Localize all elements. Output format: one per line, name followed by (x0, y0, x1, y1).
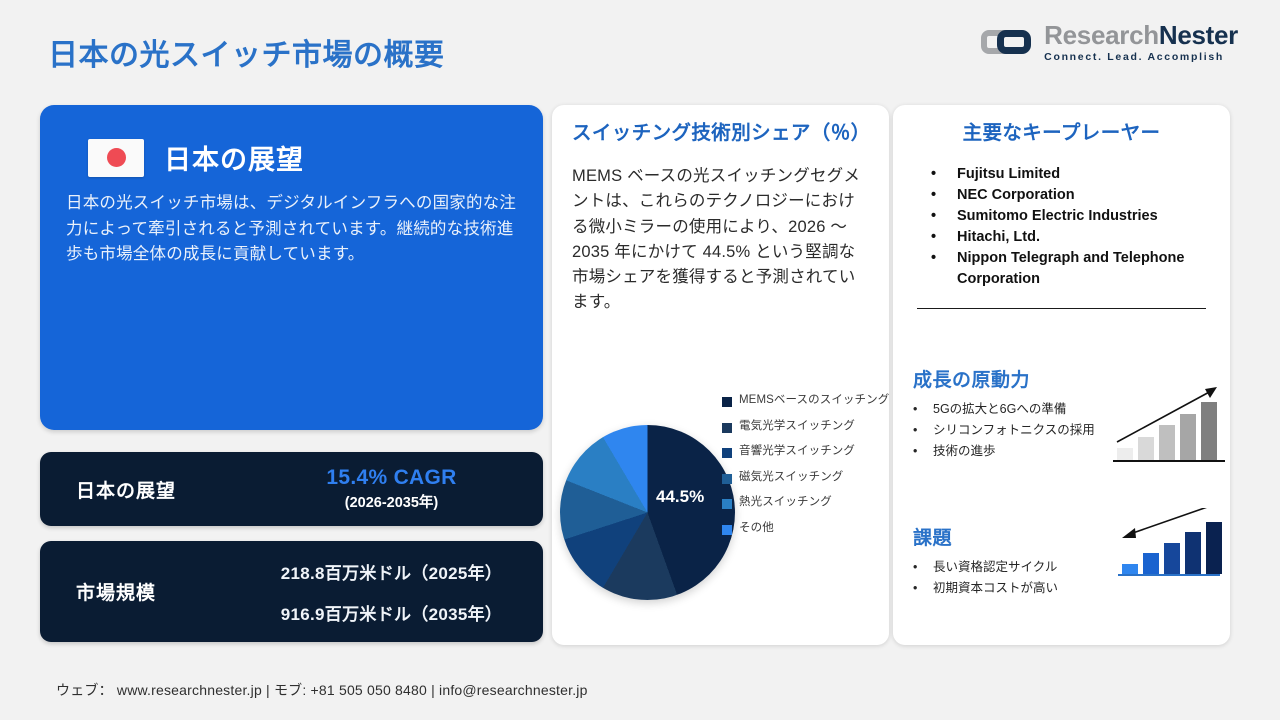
legend-swatch-icon (722, 423, 732, 433)
growth-drivers-section: 成長の原動力 •5Gの拡大と6Gへの準備•シリコンフォトニクスの採用•技術の進歩 (913, 365, 1118, 463)
pie-data-label: 44.5% (656, 487, 704, 507)
bullet-icon: • (913, 558, 933, 576)
legend-item[interactable]: 磁気光スイッチング (722, 470, 892, 486)
pie-graphic (560, 425, 735, 600)
legend-label: MEMSベースのスイッチング (739, 393, 889, 409)
market-size-2025: 218.8百万米ドル（2025年） (281, 559, 502, 584)
bar (1138, 437, 1154, 460)
outlook-body-text: 日本の光スイッチ市場は、デジタルインフラへの国家的な注力によって牽引されると予測… (66, 191, 517, 268)
bar (1164, 543, 1180, 574)
slide-root: 日本の光スイッチ市場の概要 ResearchNester Connect. Le… (0, 0, 1280, 720)
key-players-title: 主要なキープレーヤー (913, 121, 1210, 146)
legend-swatch-icon (722, 448, 732, 458)
list-item: •技術の進歩 (913, 442, 1118, 460)
bar (1117, 448, 1133, 460)
challenges-title: 課題 (913, 523, 1123, 550)
challenges-axis (1118, 574, 1220, 576)
list-item: •Hitachi, Ltd. (931, 227, 1210, 248)
list-item: •シリコンフォトニクスの採用 (913, 421, 1118, 439)
bar (1185, 532, 1201, 574)
outlook-title: 日本の展望 (164, 138, 304, 177)
list-item: •初期資本コストが高い (913, 579, 1123, 597)
share-panel-body: MEMS ベースの光スイッチングセグメントは、これらのテクノロジーにおける微小ミ… (572, 164, 869, 314)
bullet-label: 5Gの拡大と6Gへの準備 (933, 400, 1066, 418)
legend-label: 音響光学スイッチング (739, 444, 855, 460)
cagr-period: (2026-2035年) (345, 491, 439, 512)
bar (1206, 522, 1222, 574)
player-name: Nippon Telegraph and Telephone Corporati… (957, 248, 1210, 290)
bullet-label: 長い資格認定サイクル (933, 558, 1057, 576)
page-title: 日本の光スイッチ市場の概要 (48, 30, 445, 74)
bullet-icon: • (931, 164, 957, 185)
share-pie-chart: 44.5% MEMSベースのスイッチング電気光学スイッチング音響光学スイッチング… (552, 385, 889, 640)
legend-item[interactable]: MEMSベースのスイッチング (722, 393, 892, 409)
cagr-label: 日本の展望 (40, 476, 240, 503)
bar (1201, 402, 1217, 460)
list-item: •Sumitomo Electric Industries (931, 206, 1210, 227)
logo-mark-icon (981, 25, 1035, 59)
bullet-icon: • (913, 442, 933, 460)
cagr-value: 15.4% CAGR (326, 466, 456, 490)
japan-outlook-card: 日本の展望 日本の光スイッチ市場は、デジタルインフラへの国家的な注力によって牽引… (40, 105, 543, 430)
legend-item[interactable]: 音響光学スイッチング (722, 444, 892, 460)
list-item: •Nippon Telegraph and Telephone Corporat… (931, 248, 1210, 290)
bullet-label: 技術の進歩 (933, 442, 996, 460)
logo-word-research: Research (1044, 20, 1159, 50)
brand-logo: ResearchNester Connect. Lead. Accomplish (981, 22, 1238, 63)
list-item: •NEC Corporation (931, 185, 1210, 206)
market-size-stat-card: 市場規模 218.8百万米ドル（2025年） 916.9百万米ドル（2035年） (40, 541, 543, 642)
player-name: Sumitomo Electric Industries (957, 206, 1158, 227)
list-item: •Fujitsu Limited (931, 164, 1210, 185)
bullet-icon: • (931, 185, 957, 206)
descending-arrow-bar-chart-icon (1118, 508, 1220, 580)
bullet-icon: • (913, 579, 933, 597)
bullet-icon: • (913, 400, 933, 418)
bullet-icon: • (913, 421, 933, 439)
legend-swatch-icon (722, 474, 732, 484)
footer-contact: ウェブ： www.researchnester.jp | モブ: +81 505… (56, 680, 588, 700)
panel-divider (917, 308, 1206, 309)
challenges-list: •長い資格認定サイクル•初期資本コストが高い (913, 558, 1123, 597)
legend-swatch-icon (722, 499, 732, 509)
legend-item[interactable]: その他 (722, 521, 892, 537)
japan-flag-icon (88, 139, 144, 177)
drivers-axis (1113, 460, 1225, 462)
player-name: NEC Corporation (957, 185, 1075, 206)
legend-label: 電気光学スイッチング (739, 419, 855, 435)
list-item: •長い資格認定サイクル (913, 558, 1123, 576)
key-players-list: •Fujitsu Limited•NEC Corporation•Sumitom… (931, 164, 1210, 290)
market-size-2035: 916.9百万米ドル（2035年） (281, 600, 502, 625)
list-item: •5Gの拡大と6Gへの準備 (913, 400, 1118, 418)
legend-item[interactable]: 電気光学スイッチング (722, 419, 892, 435)
legend-label: 磁気光スイッチング (739, 470, 843, 486)
bullet-label: シリコンフォトニクスの採用 (933, 421, 1095, 439)
bar (1122, 564, 1138, 574)
player-name: Hitachi, Ltd. (957, 227, 1040, 248)
bullet-label: 初期資本コストが高い (933, 579, 1058, 597)
legend-label: 熱光スイッチング (739, 495, 832, 511)
bar (1159, 425, 1175, 460)
legend-item[interactable]: 熱光スイッチング (722, 495, 892, 511)
bullet-icon: • (931, 248, 957, 269)
bullet-icon: • (931, 206, 957, 227)
legend-swatch-icon (722, 397, 732, 407)
logo-word-nester: Nester (1159, 20, 1238, 50)
legend-swatch-icon (722, 525, 732, 535)
logo-tagline: Connect. Lead. Accomplish (1044, 52, 1238, 63)
bar (1143, 553, 1159, 574)
legend-label: その他 (739, 521, 774, 537)
growth-drivers-title: 成長の原動力 (913, 365, 1118, 392)
challenges-bars (1122, 502, 1222, 574)
drivers-bars (1117, 374, 1217, 460)
bullet-icon: • (931, 227, 957, 248)
growth-drivers-list: •5Gの拡大と6Gへの準備•シリコンフォトニクスの採用•技術の進歩 (913, 400, 1118, 460)
player-name: Fujitsu Limited (957, 164, 1060, 185)
market-size-label: 市場規模 (40, 578, 240, 605)
bar (1180, 414, 1196, 460)
share-panel-title: スイッチング技術別シェア（％） (572, 121, 869, 146)
challenges-section: 課題 •長い資格認定サイクル•初期資本コストが高い (913, 523, 1123, 600)
cagr-stat-card: 日本の展望 15.4% CAGR (2026-2035年) (40, 452, 543, 526)
ascending-bar-chart-icon (1113, 380, 1225, 466)
pie-legend: MEMSベースのスイッチング電気光学スイッチング音響光学スイッチング磁気光スイッ… (722, 393, 892, 536)
